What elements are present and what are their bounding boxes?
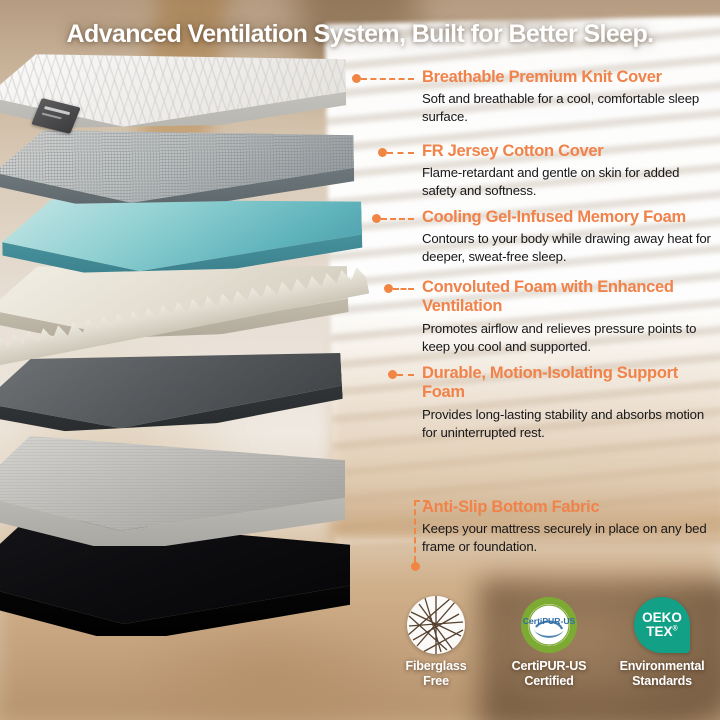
connector-convoluted-foam (384, 284, 414, 293)
feature-body: Contours to your body while drawing away… (422, 230, 712, 265)
feature-heading: Convoluted Foam with Enhanced Ventilatio… (422, 278, 712, 317)
connector-cooling-gel (372, 214, 414, 223)
badge-caption: CertiPUR-USCertified (497, 659, 601, 689)
connector-dot (411, 562, 420, 571)
brand-label-line-secondary (42, 113, 62, 120)
feature-heading: FR Jersey Cotton Cover (422, 142, 712, 161)
infographic-canvas: Advanced Ventilation System, Built for B… (0, 0, 720, 720)
svg-text:CertiPUR-US: CertiPUR-US (523, 616, 576, 626)
connector-dash (381, 218, 414, 220)
feature-callout-anti-slip: Anti-Slip Bottom Fabric Keeps your mattr… (422, 498, 712, 556)
badge-art (384, 594, 488, 656)
connector-dot (352, 74, 361, 83)
connector-dash (393, 288, 414, 290)
oeko-tex-line2: TEX® (646, 625, 677, 639)
connector-support-foam (388, 370, 414, 379)
feature-body: Keeps your mattress securely in place on… (422, 520, 712, 555)
certification-badges: FiberglassFree CertiPUR-US CertiPUR-USCe… (384, 594, 714, 689)
connector-dot (378, 148, 387, 157)
connector-dot (372, 214, 381, 223)
mattress-layer-fr-jersey-cotton-cover (0, 125, 355, 205)
connector-dash (387, 152, 414, 154)
feature-heading: Durable, Motion-Isolating Support Foam (422, 364, 712, 403)
page-title: Advanced Ventilation System, Built for B… (0, 20, 720, 49)
feature-body: Flame-retardant and gentle on skin for a… (422, 164, 712, 199)
badge-art: OEKO TEX® (610, 594, 714, 656)
connector-anti-slip (414, 500, 416, 562)
feature-callout-support-foam: Durable, Motion-Isolating Support Foam P… (422, 364, 712, 441)
connector-dot (388, 370, 397, 379)
mattress-layer-support-foam (0, 343, 344, 436)
oeko-tex-icon: OEKO TEX® (634, 597, 690, 653)
feature-body: Provides long-lasting stability and abso… (422, 406, 712, 441)
feature-heading: Breathable Premium Knit Cover (422, 68, 712, 87)
badge-fiberglass-free: FiberglassFree (384, 594, 488, 689)
feature-heading: Cooling Gel-Infused Memory Foam (422, 208, 712, 227)
connector-dot (384, 284, 393, 293)
fiberglass-strands (407, 596, 465, 654)
badge-certipur-us: CertiPUR-US CertiPUR-USCertified (497, 594, 601, 689)
badge-caption: EnvironmentalStandards (610, 659, 714, 689)
connector-dash (361, 78, 414, 80)
connector-fr-jersey (378, 148, 414, 157)
mattress-layer-stack (0, 0, 420, 700)
feature-callout-knit-cover: Breathable Premium Knit Cover Soft and b… (422, 68, 712, 126)
feature-callout-cooling-gel: Cooling Gel-Infused Memory Foam Contours… (422, 208, 712, 266)
feature-heading: Anti-Slip Bottom Fabric (422, 498, 712, 517)
oeko-tex-line1: OEKO (642, 611, 682, 625)
mattress-layer-base-slab (0, 436, 345, 546)
fiberglass-free-icon (407, 596, 465, 654)
certipur-us-icon: CertiPUR-US (520, 596, 578, 654)
badge-art: CertiPUR-US (497, 594, 601, 656)
feature-callout-convoluted-foam: Convoluted Foam with Enhanced Ventilatio… (422, 278, 712, 355)
feature-body: Promotes airflow and relieves pressure p… (422, 320, 712, 355)
connector-dash (397, 374, 414, 376)
badge-caption: FiberglassFree (384, 659, 488, 689)
connector-knit-cover (352, 74, 414, 83)
feature-body: Soft and breathable for a cool, comforta… (422, 90, 712, 125)
badge-oeko-tex: OEKO TEX® EnvironmentalStandards (610, 594, 714, 689)
feature-callout-fr-jersey: FR Jersey Cotton Cover Flame-retardant a… (422, 142, 712, 200)
